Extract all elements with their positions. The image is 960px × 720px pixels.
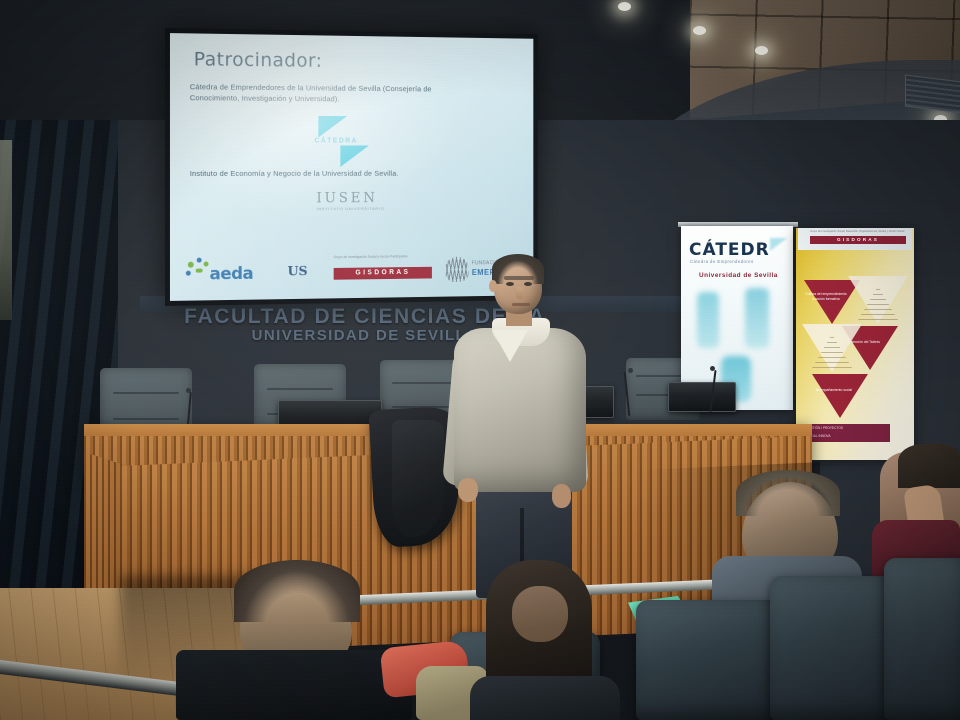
banner-catedra-shape [697,292,719,348]
speaker-mouth [512,303,530,306]
banner-triangle-1-label: Cultura del emprendimiento y acción form… [804,292,848,301]
speaker-nose [516,287,524,299]
attendee-hair-mid-right [736,470,840,516]
attendee-hair-far-right [898,444,960,488]
banner-gisdoras: Grupo de Investigación Social, Desarroll… [796,228,914,460]
banner-footer-line2: SOCIAL INNOVA [806,434,888,438]
logo-aeda: aeda [184,255,274,290]
speaker-brow [504,276,534,280]
spotlight-icon [755,46,768,55]
catedra-logo-text: CÁTEDRA [315,138,358,145]
door-gap [0,140,12,320]
logo-aeda-text: aeda [210,264,254,284]
slide-body-line-1: Cátedra de Emprendedores de la Universid… [190,81,477,105]
desk-monitor [668,382,736,412]
microphone-head-icon [186,388,191,393]
slide-title: Patrocinador: [194,48,323,71]
attendee-body-front-left [176,650,412,720]
logo-gisdoras: Grupo de Investigación Social y Acción P… [330,253,434,287]
attendee-hair-front-left [234,560,360,622]
speaker-eye [524,282,532,286]
audience-seat [636,600,782,720]
attendee-body-front-center [470,676,620,720]
catedra-triangle-icon [318,116,347,138]
speaker-left-hand [458,478,478,502]
spotlight-icon [618,2,631,11]
banner-triangle-3-label: Acompañamiento social [812,388,856,393]
banner-footer-line1: GESTIÓN I PROYECTOS [806,426,888,430]
speaker-vneck-opening [492,330,528,362]
auditorium-photo: FACULTAD DE CIENCIAS DE LA UNIVERSIDAD D… [0,0,960,720]
iusen-logo-text: IUSEN [316,190,377,206]
banner-gisdoras-header-caption: Grupo de Investigación Social, Desarroll… [810,230,906,233]
logo-gisdoras-caption: Grupo de Investigación Social y Acción P… [334,254,432,266]
audience-seat [770,576,898,720]
banner-triangle-3 [812,374,868,418]
logo-gisdoras-text: GISDORAS [334,267,432,280]
banner-catedra-shape [745,288,769,348]
attendee-face-front-center [512,586,568,642]
banner-catedra-title: CÁTEDR [689,240,770,260]
spotlight-icon [693,26,706,35]
microphone-head-icon [628,368,633,373]
iusen-logo-subtitle: INSTITUTO UNIVERSITARIO [316,206,384,211]
audience-seat [884,558,960,720]
banner-catedra-triangle-icon [770,238,787,251]
logo-universidad-de-sevilla: US [286,256,319,286]
logo-us-text: US [288,264,308,279]
speaker-person [432,256,584,586]
slide-body-line-2: Instituto de Economía y Negocio de la Un… [190,168,477,179]
catedra-triangle-icon [340,145,369,167]
banner-gisdoras-header-band: GISDORAS [810,236,906,244]
microphone-head-icon [710,366,715,371]
speaker-right-hand [552,484,571,508]
speaker-ear [489,280,497,292]
banner-catedra-university: Universidad de Sevilla [699,272,778,279]
speaker-eye [506,282,514,286]
banner-catedra-subtitle: Cátedra de Emprendedores [690,259,786,264]
